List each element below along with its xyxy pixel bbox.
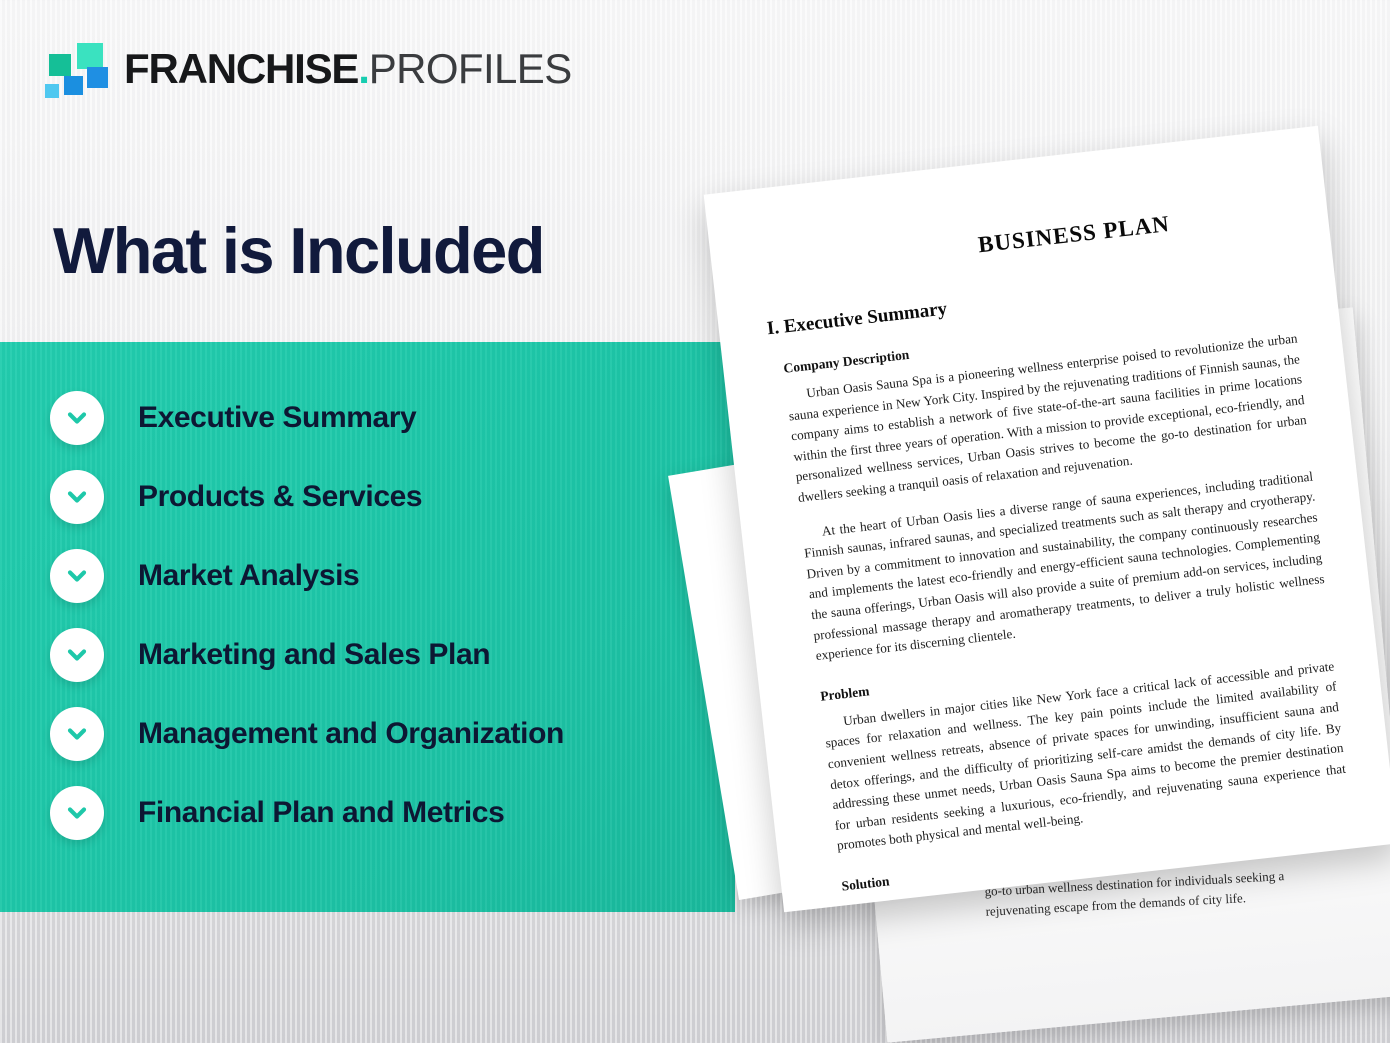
document-page-front[interactable]: BUSINESS PLAN I. Executive Summary Compa…	[704, 126, 1390, 912]
chevron-down-icon[interactable]	[50, 786, 104, 840]
list-item-label: Products & Services	[138, 480, 422, 514]
logo-square-1	[49, 54, 71, 76]
logo-square-4	[87, 67, 108, 88]
logo-word-separator: .	[358, 45, 368, 93]
list-item[interactable]: Management and Organization	[50, 711, 735, 757]
logo-square-5	[45, 84, 59, 98]
logo-squares-icon	[44, 40, 106, 98]
list-item[interactable]: Financial Plan and Metrics	[50, 790, 735, 836]
logo-square-3	[64, 76, 83, 95]
chevron-down-icon[interactable]	[50, 470, 104, 524]
chevron-down-icon[interactable]	[50, 707, 104, 761]
brand-logo[interactable]: FRANCHISE . PROFILES	[44, 40, 572, 98]
list-item-label: Financial Plan and Metrics	[138, 796, 504, 830]
logo-word-secondary: PROFILES	[369, 45, 572, 93]
list-item-label: Market Analysis	[138, 559, 359, 593]
list-item-label: Executive Summary	[138, 401, 416, 435]
list-item[interactable]: Executive Summary	[50, 395, 735, 441]
logo-wordmark: FRANCHISE . PROFILES	[124, 45, 572, 93]
list-item[interactable]: Products & Services	[50, 474, 735, 520]
chevron-down-icon[interactable]	[50, 391, 104, 445]
chevron-down-icon[interactable]	[50, 549, 104, 603]
page-title: What is Included	[53, 213, 544, 288]
list-item-label: Marketing and Sales Plan	[138, 638, 490, 672]
list-item-label: Management and Organization	[138, 717, 564, 751]
included-checklist: Executive Summary Products & Services Ma…	[0, 342, 735, 912]
list-item[interactable]: Market Analysis	[50, 553, 735, 599]
chevron-down-icon[interactable]	[50, 628, 104, 682]
document-title: BUSINESS PLAN	[863, 198, 1284, 271]
logo-word-primary: FRANCHISE	[124, 45, 358, 93]
list-item[interactable]: Marketing and Sales Plan	[50, 632, 735, 678]
logo-square-2	[77, 43, 103, 69]
